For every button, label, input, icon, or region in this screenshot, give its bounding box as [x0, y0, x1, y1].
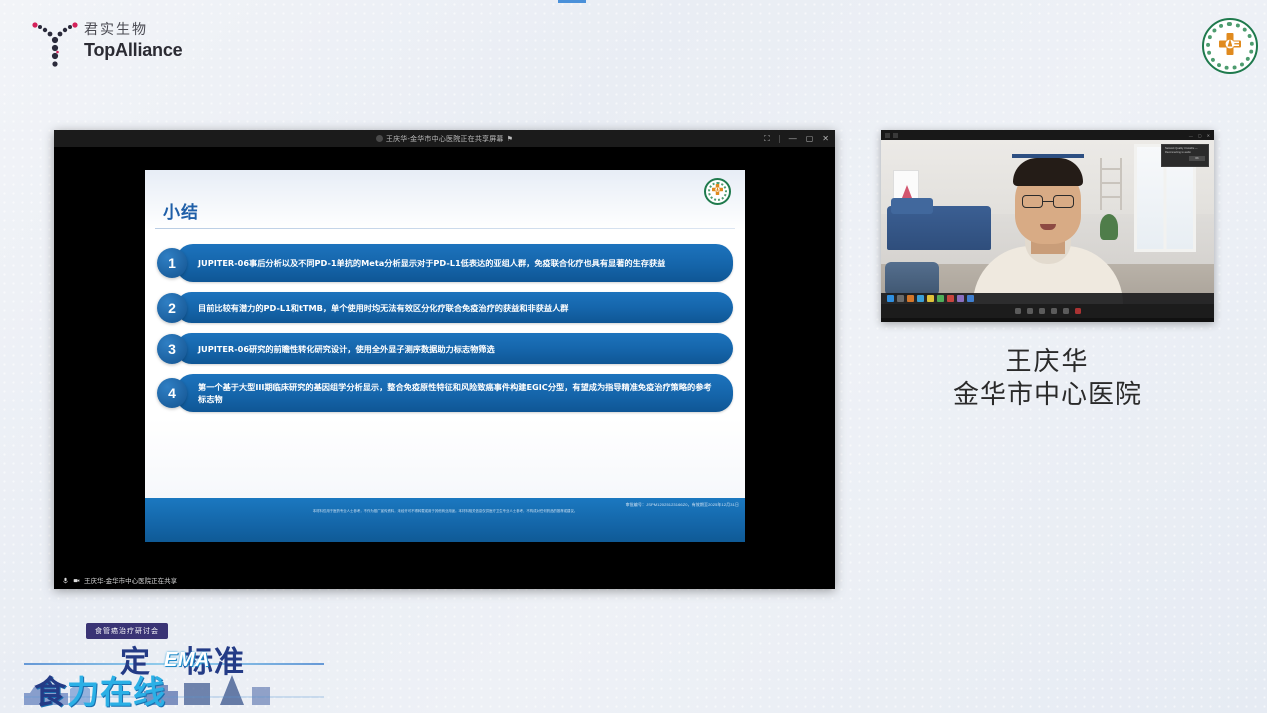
- share-window-controls[interactable]: ⛶ — ▢ ✕: [764, 135, 829, 143]
- search-icon: [897, 295, 904, 302]
- video-toolbar-right[interactable]: — ▢ ✕: [1189, 133, 1210, 138]
- slide-title: 小结: [163, 198, 199, 223]
- hospital-logo-core: [1215, 29, 1245, 64]
- camera-icon[interactable]: [73, 577, 80, 584]
- top-accent-bar: [558, 0, 586, 3]
- topalliance-brand-logo: 君实生物 TopAlliance: [26, 18, 201, 70]
- maximize-icon[interactable]: ▢: [806, 135, 814, 143]
- grid-view-icon[interactable]: [885, 133, 890, 138]
- conference-branding: 食管癌治疗研讨会 定__标准 EMA 食力在线: [24, 619, 324, 707]
- minimize-icon[interactable]: —: [789, 135, 797, 143]
- presenter-caption: 王庆华 金华市中心医院: [881, 346, 1214, 412]
- bullet-number-2: 2: [157, 293, 187, 323]
- close-icon[interactable]: ✕: [822, 135, 829, 143]
- start-menu-icon: [887, 295, 894, 302]
- folder-icon: [907, 295, 914, 302]
- bullet-number-1: 1: [157, 248, 187, 278]
- video-notice-ok-button[interactable]: OK: [1189, 156, 1205, 161]
- brand-name-en: TopAlliance: [84, 40, 182, 61]
- slide-body: 1 JUPITER-06事后分析以及不同PD-1单抗的Meta分析显示对于PD-…: [145, 230, 745, 498]
- slide-logo-core: [710, 182, 725, 202]
- video-toolbar[interactable]: — ▢ ✕: [881, 130, 1214, 140]
- bullet-text-3: JUPITER-06研究的前瞻性转化研究设计，使用全外显子测序数据助力标志物筛选: [176, 333, 733, 364]
- video-scene: Network Quality Unstable — Reconnecting …: [881, 140, 1214, 304]
- video-notice-text: Network Quality Unstable — Reconnecting …: [1165, 147, 1205, 154]
- share-icon[interactable]: [1039, 308, 1045, 314]
- slide-bullet-3: 3 JUPITER-06研究的前瞻性转化研究设计，使用全外显子测序数据助力标志物…: [157, 333, 733, 364]
- fullscreen-icon[interactable]: ⛶: [764, 135, 770, 143]
- bullet-number-3: 3: [157, 334, 187, 364]
- mute-icon[interactable]: [1015, 308, 1021, 314]
- conference-ema-label: EMA: [164, 649, 210, 672]
- chat-icon: [937, 295, 944, 302]
- settings-icon: [957, 295, 964, 302]
- share-window-body: 小结 1 JUPI: [54, 147, 835, 589]
- mail-icon: [927, 295, 934, 302]
- leave-icon[interactable]: [1075, 308, 1081, 314]
- conference-headline-secondary: 食力在线: [34, 667, 166, 713]
- participant-video-window[interactable]: — ▢ ✕ Network Quality Unstable: [881, 130, 1214, 322]
- share-status-text: 王庆华-金华市中心医院正在共享: [84, 575, 177, 585]
- slide-bullet-1: 1 JUPITER-06事后分析以及不同PD-1单抗的Meta分析显示对于PD-…: [157, 244, 733, 282]
- hospital-emblem-icon: [1202, 18, 1258, 74]
- conference-line2-first: 食: [34, 673, 67, 711]
- media-icon: [947, 295, 954, 302]
- slide-approval-code: 审批编号：JSPM12025123166Z0，有效期至2025年12月31日: [626, 502, 739, 508]
- slide-hospital-emblem-icon: [704, 178, 731, 205]
- pin-icon[interactable]: ⚑: [507, 135, 513, 143]
- video-maximize-icon[interactable]: ▢: [1198, 133, 1202, 138]
- share-window-title-group: 王庆华-金华市中心医院正在共享屏幕 ⚑: [54, 134, 835, 144]
- brand-name-cn: 君实生物: [84, 22, 182, 38]
- slide-header-divider: [155, 228, 735, 229]
- topalliance-molecule-icon: [26, 20, 84, 68]
- video-minimize-icon[interactable]: —: [1189, 133, 1193, 138]
- bullet-number-4: 4: [157, 378, 187, 408]
- share-window-title: 王庆华-金华市中心医院正在共享屏幕: [386, 134, 504, 144]
- topalliance-brand-text: 君实生物 TopAlliance: [84, 22, 182, 61]
- share-status-bar: 王庆华-金华市中心医院正在共享: [54, 571, 835, 589]
- slide-bullet-2: 2 目前比较有潜力的PD-L1和tTMB，单个使用时均无法有效区分化疗联合免疫治…: [157, 292, 733, 323]
- participants-icon[interactable]: [1063, 308, 1069, 314]
- microphone-icon[interactable]: [62, 577, 69, 584]
- pin-view-icon[interactable]: [893, 133, 898, 138]
- speaker-hair: [1013, 158, 1083, 186]
- conference-line2-rest: 力在线: [67, 673, 166, 711]
- slide-header: 小结: [145, 170, 745, 230]
- speaker-figure: [973, 184, 1123, 304]
- video-toolbar-left: [885, 133, 898, 138]
- app-icon: [967, 295, 974, 302]
- share-window-titlebar[interactable]: 王庆华-金华市中心医院正在共享屏幕 ⚑ ⛶ — ▢ ✕: [54, 130, 835, 147]
- bullet-text-1: JUPITER-06事后分析以及不同PD-1单抗的Meta分析显示对于PD-L1…: [176, 244, 733, 282]
- slide-disclaimer: 本材料仅用于医药专业人士参考，不作为推广宣传资料，未经许可不得转载或用于其他商业…: [151, 509, 739, 514]
- chat-icon[interactable]: [1051, 308, 1057, 314]
- control-divider: [779, 135, 780, 143]
- browser-icon: [917, 295, 924, 302]
- video-close-icon[interactable]: ✕: [1207, 133, 1210, 138]
- presenter-organization: 金华市中心医院: [881, 378, 1214, 412]
- video-icon[interactable]: [1027, 308, 1033, 314]
- screen-share-icon: [376, 135, 383, 142]
- video-notice-popup[interactable]: Network Quality Unstable — Reconnecting …: [1161, 144, 1209, 167]
- shared-screen-window[interactable]: 王庆华-金华市中心医院正在共享屏幕 ⚑ ⛶ — ▢ ✕ 小结: [54, 130, 835, 589]
- presenter-name: 王庆华: [881, 346, 1214, 378]
- slide-footer: 审批编号：JSPM12025123166Z0，有效期至2025年12月31日 本…: [145, 498, 745, 542]
- video-bottom-controls[interactable]: [881, 304, 1214, 318]
- presentation-slide: 小结 1 JUPI: [145, 170, 745, 542]
- bullet-text-2: 目前比较有潜力的PD-L1和tTMB，单个使用时均无法有效区分化疗联合免疫治疗的…: [176, 292, 733, 323]
- bullet-text-4: 第一个基于大型III期临床研究的基因组学分析显示，整合免疫原性特征和风险致癌事件…: [176, 374, 733, 412]
- scene-taskbar: [881, 293, 1214, 304]
- speaker-glasses-icon: [1022, 195, 1074, 208]
- slide-bullet-4: 4 第一个基于大型III期临床研究的基因组学分析显示，整合免疫原性特征和风险致癌…: [157, 374, 733, 412]
- room-chair-left: [885, 262, 939, 296]
